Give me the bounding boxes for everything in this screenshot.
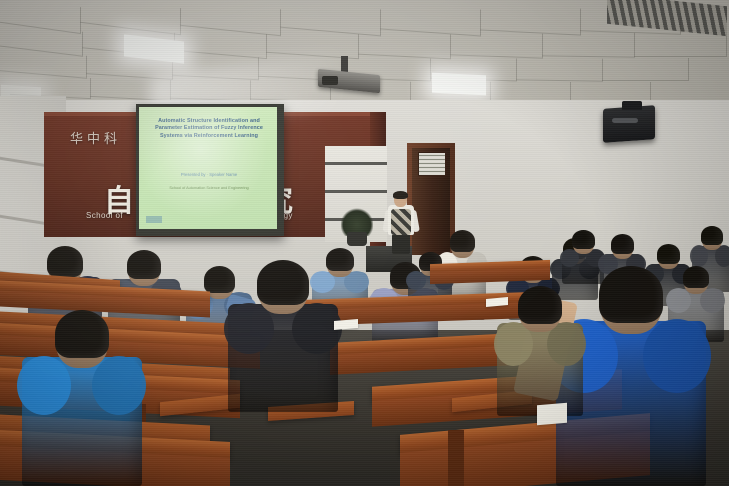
lecture-hall-photo: 华中科 自 究 School of hnology Automatic Stru… bbox=[0, 0, 729, 486]
wall-speaker-grille bbox=[612, 118, 638, 123]
wall-hanzi-small: 华中科 bbox=[70, 128, 121, 147]
person-hair bbox=[518, 286, 562, 324]
attendee-front-left-blue-hoodie bbox=[22, 312, 142, 486]
presenter-vest bbox=[391, 209, 411, 235]
person-hair bbox=[701, 226, 723, 245]
presenter-legs bbox=[392, 234, 410, 254]
person-hair bbox=[611, 234, 634, 254]
person-hair bbox=[572, 230, 595, 249]
presenter-hair bbox=[393, 191, 408, 199]
presenter bbox=[384, 192, 418, 254]
attendee-olive-jacket bbox=[497, 288, 583, 416]
screen-glare bbox=[139, 107, 277, 229]
person-shoulder-left bbox=[17, 356, 71, 415]
paper-on-desk-right bbox=[537, 403, 567, 426]
door-window-grid bbox=[418, 152, 446, 176]
wall-school-text-left: School of bbox=[86, 211, 123, 220]
person-hair bbox=[599, 266, 663, 323]
plant-pot bbox=[347, 232, 367, 246]
person-hair bbox=[55, 310, 109, 358]
person-shoulder-right bbox=[643, 319, 711, 393]
wall-speaker-mount bbox=[622, 101, 642, 110]
person-hair bbox=[657, 244, 680, 264]
ceiling-light-2 bbox=[432, 73, 486, 96]
wall-speaker bbox=[603, 105, 655, 143]
projector-lens-icon bbox=[322, 76, 338, 85]
person-hair bbox=[257, 260, 309, 305]
person-shoulder-right bbox=[92, 356, 146, 415]
person-hair bbox=[450, 230, 475, 252]
attendee-dark-jacket-center bbox=[228, 262, 338, 412]
person-hair bbox=[47, 246, 83, 277]
person-shoulder-left bbox=[224, 303, 274, 354]
person-hair bbox=[127, 250, 161, 279]
